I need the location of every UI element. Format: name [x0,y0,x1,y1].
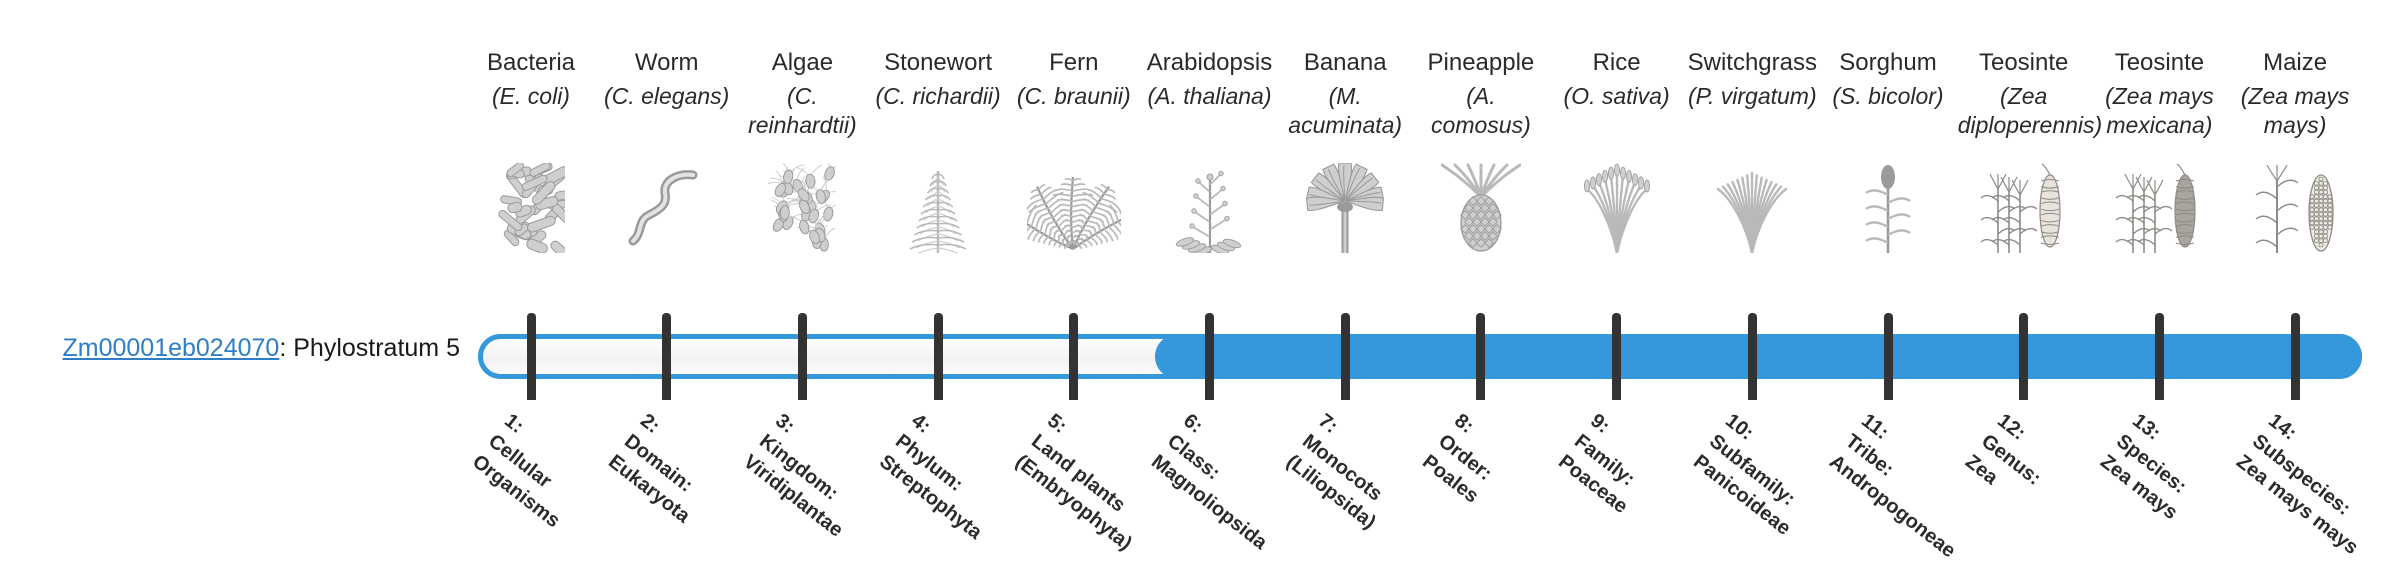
species-column-algae-2: Algae(C. reinhardtii) [736,48,868,140]
species-common-name: Arabidopsis [1144,48,1276,78]
species-latin-name: (A. thaliana) [1144,82,1276,111]
species-column-pineapple-7: Pineapple(A. comosus) [1415,48,1547,140]
species-common-name: Maize [2229,48,2361,78]
tick-mark-3[interactable] [798,313,807,400]
rank-label-11: 11:Tribe:Andropogoneae [1824,408,1993,564]
species-latin-name: (C. richardii) [872,82,1004,111]
tick-mark-13[interactable] [2155,313,2164,400]
rank-label-8: 8:Order:Poales [1417,408,1516,509]
rank-label-5: 5:Land plants(Embryophyta) [1010,408,1169,556]
tick-mark-7[interactable] [1341,313,1350,400]
species-common-name: Algae [736,48,868,78]
species-column-arabidopsis-5: Arabidopsis(A. thaliana) [1144,48,1276,111]
species-common-name: Stonewort [872,48,1004,78]
species-latin-name: (E. coli) [465,82,597,111]
species-latin-name: (P. virgatum) [1686,82,1818,111]
stonewort-icon [872,163,1004,253]
switchgrass-icon [1686,163,1818,253]
rank-label-9: 9:Family:Poaceae [1553,408,1665,519]
species-common-name: Pineapple [1415,48,1547,78]
phylostratum-timeline: Zm00001eb024070: Phylostratum 5 Bacteria… [0,0,2400,580]
species-column-sorghum-10: Sorghum(S. bicolor) [1822,48,1954,111]
rank-label-1: 1:CellularOrganisms [467,408,597,534]
rank-label-7: 7:Monocots(Liliopsida) [1281,408,1413,535]
species-common-name: Teosinte [2093,48,2225,78]
species-common-name: Worm [601,48,733,78]
phylostratum-bar[interactable] [478,334,2362,379]
species-common-name: Bacteria [465,48,597,78]
species-latin-name: (Zea diploperennis) [1958,82,2090,140]
tick-mark-11[interactable] [1884,313,1893,400]
species-latin-name: (O. sativa) [1551,82,1683,111]
bacteria-icon [465,163,597,253]
species-column-stonewort-3: Stonewort(C. richardii) [872,48,1004,111]
pineapple-icon [1415,163,1547,253]
rank-label-3: 3:Kingdom:Viridiplantae [738,408,880,543]
species-column-maize-13: Maize(Zea mays mays) [2229,48,2361,140]
phylostratum-value: Phylostratum 5 [293,334,460,362]
tick-mark-14[interactable] [2291,313,2300,400]
tick-mark-10[interactable] [1748,313,1757,400]
tick-mark-1[interactable] [527,313,536,400]
algae-icon [736,163,868,253]
fern-icon [1008,163,1140,253]
species-latin-name: (C. braunii) [1008,82,1140,111]
bar-track-filled [1155,334,2363,379]
rank-label-10: 10:Subfamily:Panicoideae [1688,408,1828,541]
tick-mark-5[interactable] [1069,313,1078,400]
species-latin-name: (Zea mays mexicana) [2093,82,2225,140]
species-common-name: Fern [1008,48,1140,78]
rice-icon [1551,163,1683,253]
tick-mark-6[interactable] [1205,313,1214,400]
rank-label-14: 14:Subspecies:Zea mays mays [2231,408,2396,561]
tick-mark-12[interactable] [2019,313,2028,400]
species-common-name: Banana [1279,48,1411,78]
species-common-name: Rice [1551,48,1683,78]
tick-mark-9[interactable] [1612,313,1621,400]
teosinte-diploperennis-icon [1958,163,2090,253]
species-column-fern-4: Fern(C. braunii) [1008,48,1140,111]
species-column-bacteria-0: Bacteria(E. coli) [465,48,597,111]
rank-label-4: 4:Phylum:Streptophyta [874,408,1019,545]
worm-icon [601,163,733,253]
species-column-switchgrass-9: Switchgrass(P. virgatum) [1686,48,1818,111]
maize-icon [2229,163,2361,253]
species-column-rice-8: Rice(O. sativa) [1551,48,1683,111]
tick-mark-2[interactable] [662,313,671,400]
species-column-teosinte-12: Teosinte(Zea mays mexicana) [2093,48,2225,140]
tick-mark-4[interactable] [934,313,943,400]
species-latin-name: (Zea mays mays) [2229,82,2361,140]
gene-id-link[interactable]: Zm00001eb024070 [62,334,279,362]
species-common-name: Switchgrass [1686,48,1818,78]
species-latin-name: (S. bicolor) [1822,82,1954,111]
species-latin-name: (C. elegans) [601,82,733,111]
gene-label-separator: : [279,334,293,362]
species-common-name: Teosinte [1958,48,2090,78]
tick-mark-8[interactable] [1476,313,1485,400]
arabidopsis-icon [1144,163,1276,253]
species-column-worm-1: Worm(C. elegans) [601,48,733,111]
gene-phylostratum-label: Zm00001eb024070: Phylostratum 5 [0,333,460,363]
species-column-teosinte-11: Teosinte(Zea diploperennis) [1958,48,2090,140]
species-latin-name: (C. reinhardtii) [736,82,868,140]
species-common-name: Sorghum [1822,48,1954,78]
sorghum-icon [1822,163,1954,253]
teosinte-mexicana-icon [2093,163,2225,253]
species-column-banana-6: Banana(M. acuminata) [1279,48,1411,140]
rank-label-6: 6:Class:Magnoliopsida [1145,408,1303,556]
species-latin-name: (M. acuminata) [1279,82,1411,140]
species-latin-name: (A. comosus) [1415,82,1547,140]
rank-label-13: 13:Species:Zea mays [2095,408,2215,526]
rank-label-2: 2:Domain:Eukaryota [603,408,727,529]
banana-icon [1279,163,1411,253]
